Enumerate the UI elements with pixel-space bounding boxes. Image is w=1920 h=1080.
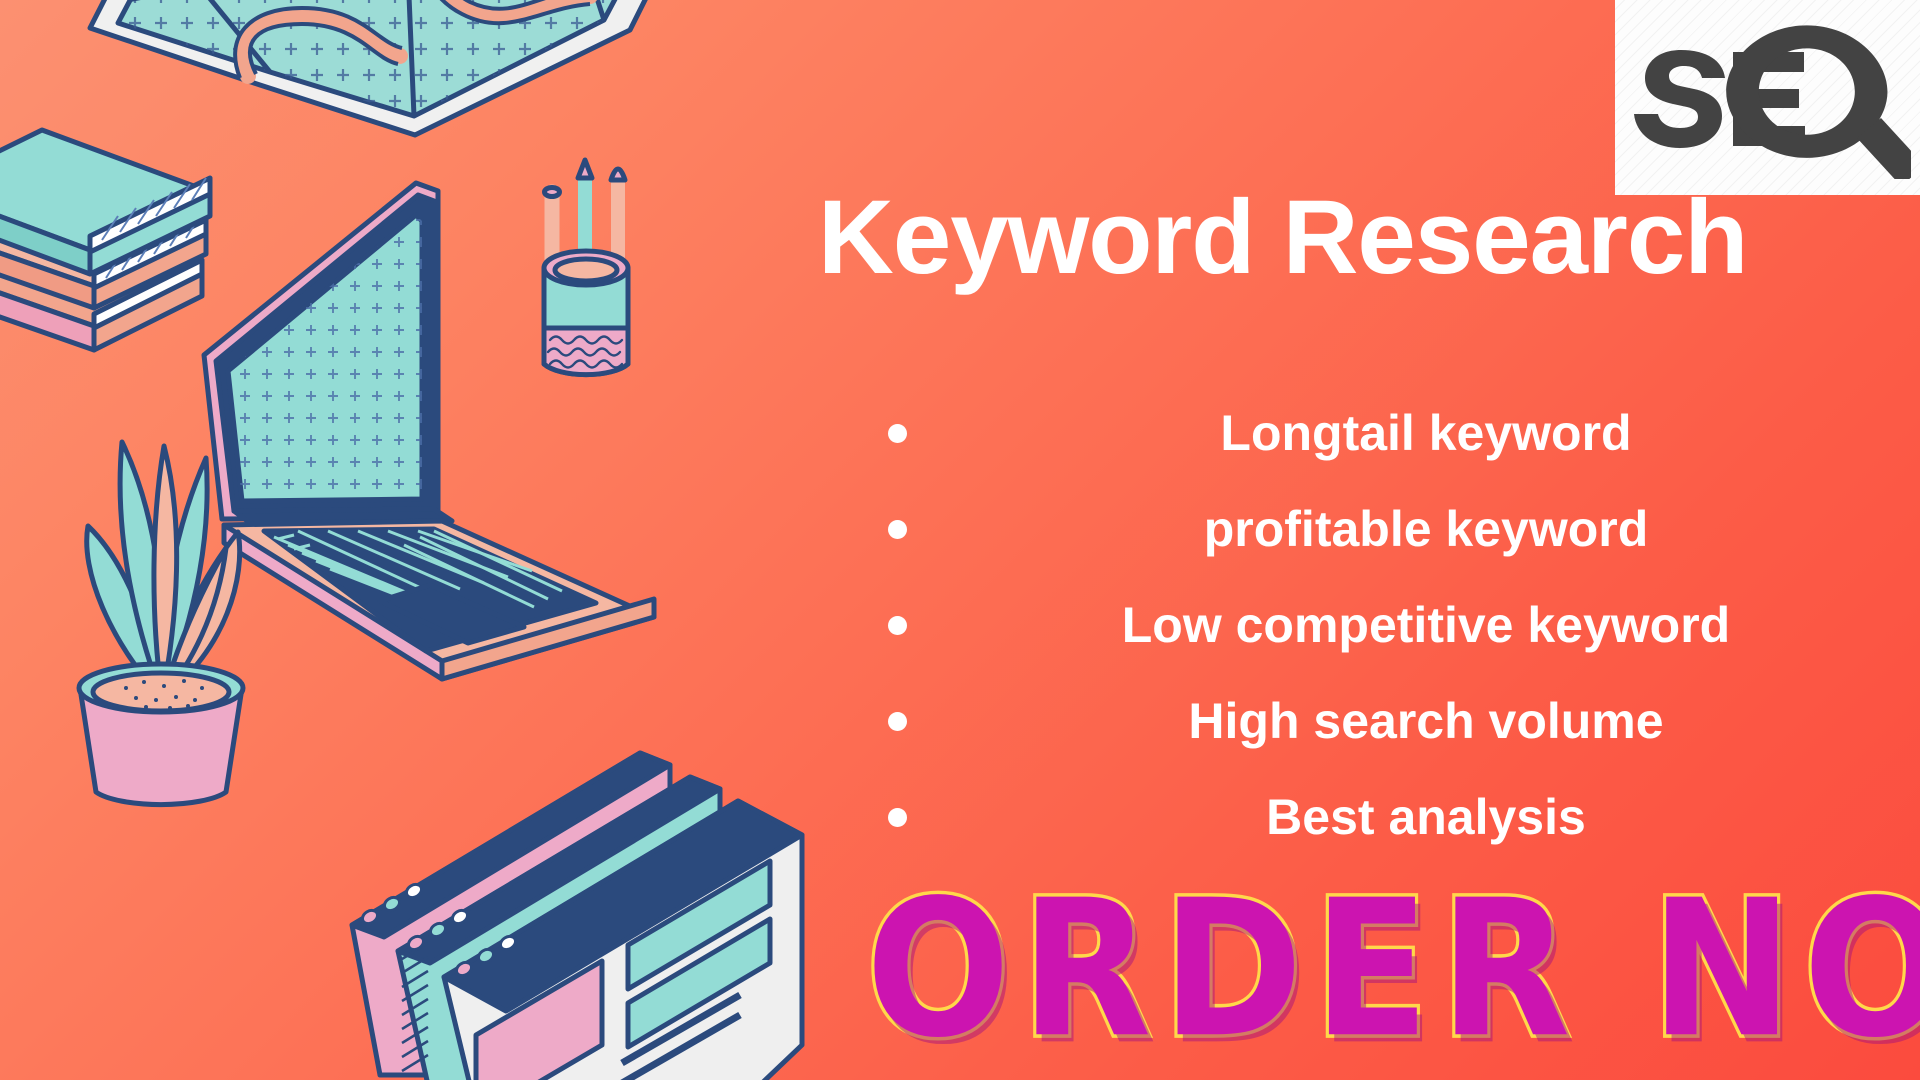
list-item: Best analysis bbox=[860, 769, 1920, 865]
feature-list: Longtail keyword profitable keyword Low … bbox=[860, 385, 1920, 865]
seo-logo bbox=[1629, 14, 1911, 179]
list-item: High search volume bbox=[860, 673, 1920, 769]
order-now-button[interactable]: ORDER NOW bbox=[866, 875, 1920, 1064]
list-item: Longtail keyword bbox=[860, 385, 1920, 481]
potted-plant-illustration bbox=[40, 420, 290, 820]
list-item: profitable keyword bbox=[860, 481, 1920, 577]
browser-windows-illustration bbox=[340, 745, 810, 1080]
list-item: Low competitive keyword bbox=[860, 577, 1920, 673]
poster-canvas: Keyword Research Longtail keyword profit… bbox=[0, 0, 1920, 1080]
pencil-cup-illustration bbox=[530, 150, 660, 400]
page-title: Keyword Research bbox=[818, 185, 1918, 290]
seo-logo-plate bbox=[1615, 0, 1920, 195]
